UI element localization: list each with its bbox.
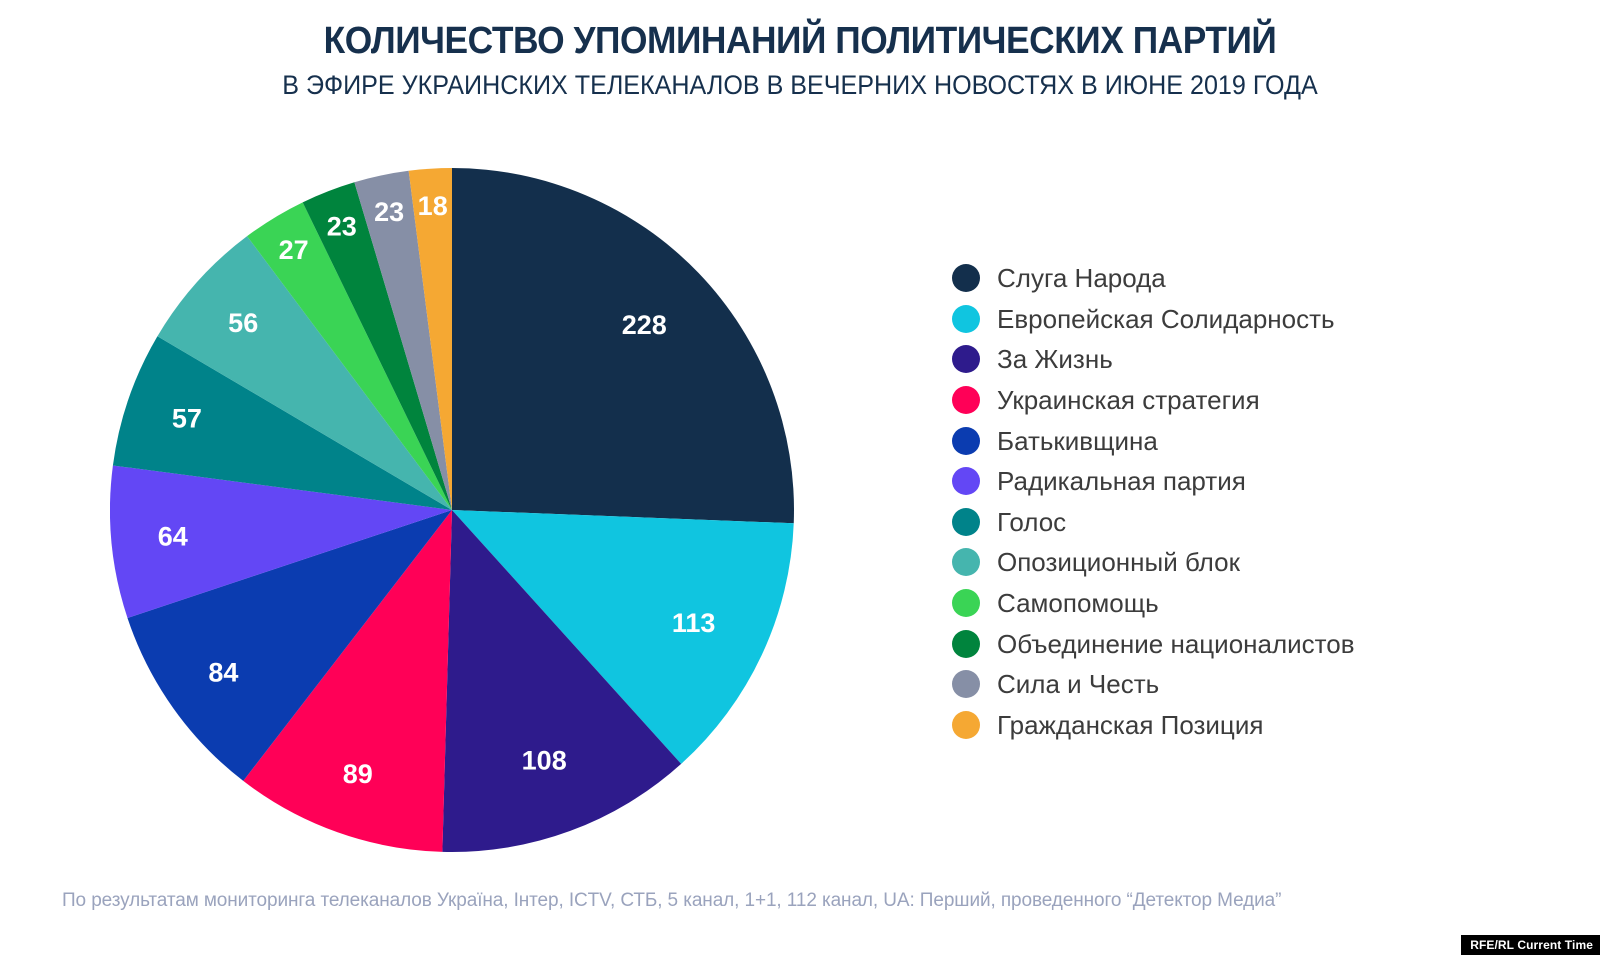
legend-item[interactable]: Батькивщина — [952, 420, 1572, 461]
legend-item[interactable]: Объединение националистов — [952, 623, 1572, 664]
legend-item[interactable]: Сила и Честь — [952, 664, 1572, 705]
pie-slice-value-label: 113 — [672, 608, 716, 638]
legend-item[interactable]: Голос — [952, 502, 1572, 543]
legend-color-swatch-icon — [952, 630, 980, 658]
pie-slice-value-label: 27 — [279, 235, 309, 265]
page-title: КОЛИЧЕСТВО УПОМИНАНИЙ ПОЛИТИЧЕСКИХ ПАРТИ… — [56, 20, 1544, 63]
legend-item[interactable]: Слуга Народа — [952, 258, 1572, 299]
pie-chart: 228113108898464575627232318 — [110, 168, 794, 852]
legend-item-label: Опозиционный блок — [997, 549, 1240, 575]
legend-item[interactable]: Самопомощь — [952, 583, 1572, 624]
pie-slice-value-label: 108 — [522, 745, 567, 775]
pie-chart-svg: 228113108898464575627232318 — [110, 168, 794, 852]
page-subtitle: В ЭФИРЕ УКРАИНСКИХ ТЕЛЕКАНАЛОВ В ВЕЧЕРНИ… — [56, 69, 1544, 101]
legend-item-label: Сила и Честь — [997, 671, 1159, 697]
legend-item[interactable]: Украинская стратегия — [952, 380, 1572, 421]
pie-slice — [452, 168, 794, 523]
legend-item[interactable]: Опозиционный блок — [952, 542, 1572, 583]
legend-color-swatch-icon — [952, 345, 980, 373]
legend-color-swatch-icon — [952, 305, 980, 333]
legend-item-label: Объединение националистов — [997, 631, 1355, 657]
legend-color-swatch-icon — [952, 508, 980, 536]
legend-color-swatch-icon — [952, 427, 980, 455]
legend-color-swatch-icon — [952, 386, 980, 414]
legend-item-label: Украинская стратегия — [997, 387, 1260, 413]
watermark-badge: RFE/RL Current Time — [1461, 935, 1600, 955]
infographic-page: КОЛИЧЕСТВО УПОМИНАНИЙ ПОЛИТИЧЕСКИХ ПАРТИ… — [0, 0, 1600, 955]
pie-slice-value-label: 89 — [343, 759, 373, 789]
legend-item[interactable]: Гражданская Позиция — [952, 705, 1572, 746]
legend-item-label: За Жизнь — [997, 346, 1113, 372]
pie-slice-value-label: 64 — [158, 522, 188, 552]
legend-item-label: Слуга Народа — [997, 265, 1166, 291]
legend-item-label: Радикальная партия — [997, 468, 1246, 494]
legend-color-swatch-icon — [952, 467, 980, 495]
legend: Слуга НародаЕвропейская СолидарностьЗа Ж… — [952, 258, 1572, 745]
legend-color-swatch-icon — [952, 548, 980, 576]
legend-color-swatch-icon — [952, 670, 980, 698]
legend-item-label: Батькивщина — [997, 428, 1158, 454]
pie-slice-value-label: 23 — [327, 211, 357, 241]
title-block: КОЛИЧЕСТВО УПОМИНАНИЙ ПОЛИТИЧЕСКИХ ПАРТИ… — [0, 20, 1600, 101]
pie-slice-value-label: 57 — [172, 404, 202, 434]
legend-color-swatch-icon — [952, 589, 980, 617]
pie-slice-group — [110, 168, 794, 852]
legend-color-swatch-icon — [952, 264, 980, 292]
legend-item-label: Европейская Солидарность — [997, 306, 1335, 332]
pie-slice-value-label: 56 — [228, 308, 258, 338]
legend-item[interactable]: Европейская Солидарность — [952, 299, 1572, 340]
legend-item-label: Голос — [997, 509, 1066, 535]
source-note: По результатам мониторинга телеканалов У… — [62, 890, 1542, 912]
legend-item-label: Гражданская Позиция — [997, 712, 1263, 738]
legend-item[interactable]: Радикальная партия — [952, 461, 1572, 502]
pie-slice-value-label: 84 — [208, 657, 238, 687]
pie-slice-value-label: 18 — [418, 191, 448, 221]
pie-slice-value-label: 23 — [374, 197, 404, 227]
legend-item[interactable]: За Жизнь — [952, 339, 1572, 380]
legend-item-label: Самопомощь — [997, 590, 1159, 616]
legend-color-swatch-icon — [952, 711, 980, 739]
pie-slice-value-label: 228 — [622, 310, 667, 340]
